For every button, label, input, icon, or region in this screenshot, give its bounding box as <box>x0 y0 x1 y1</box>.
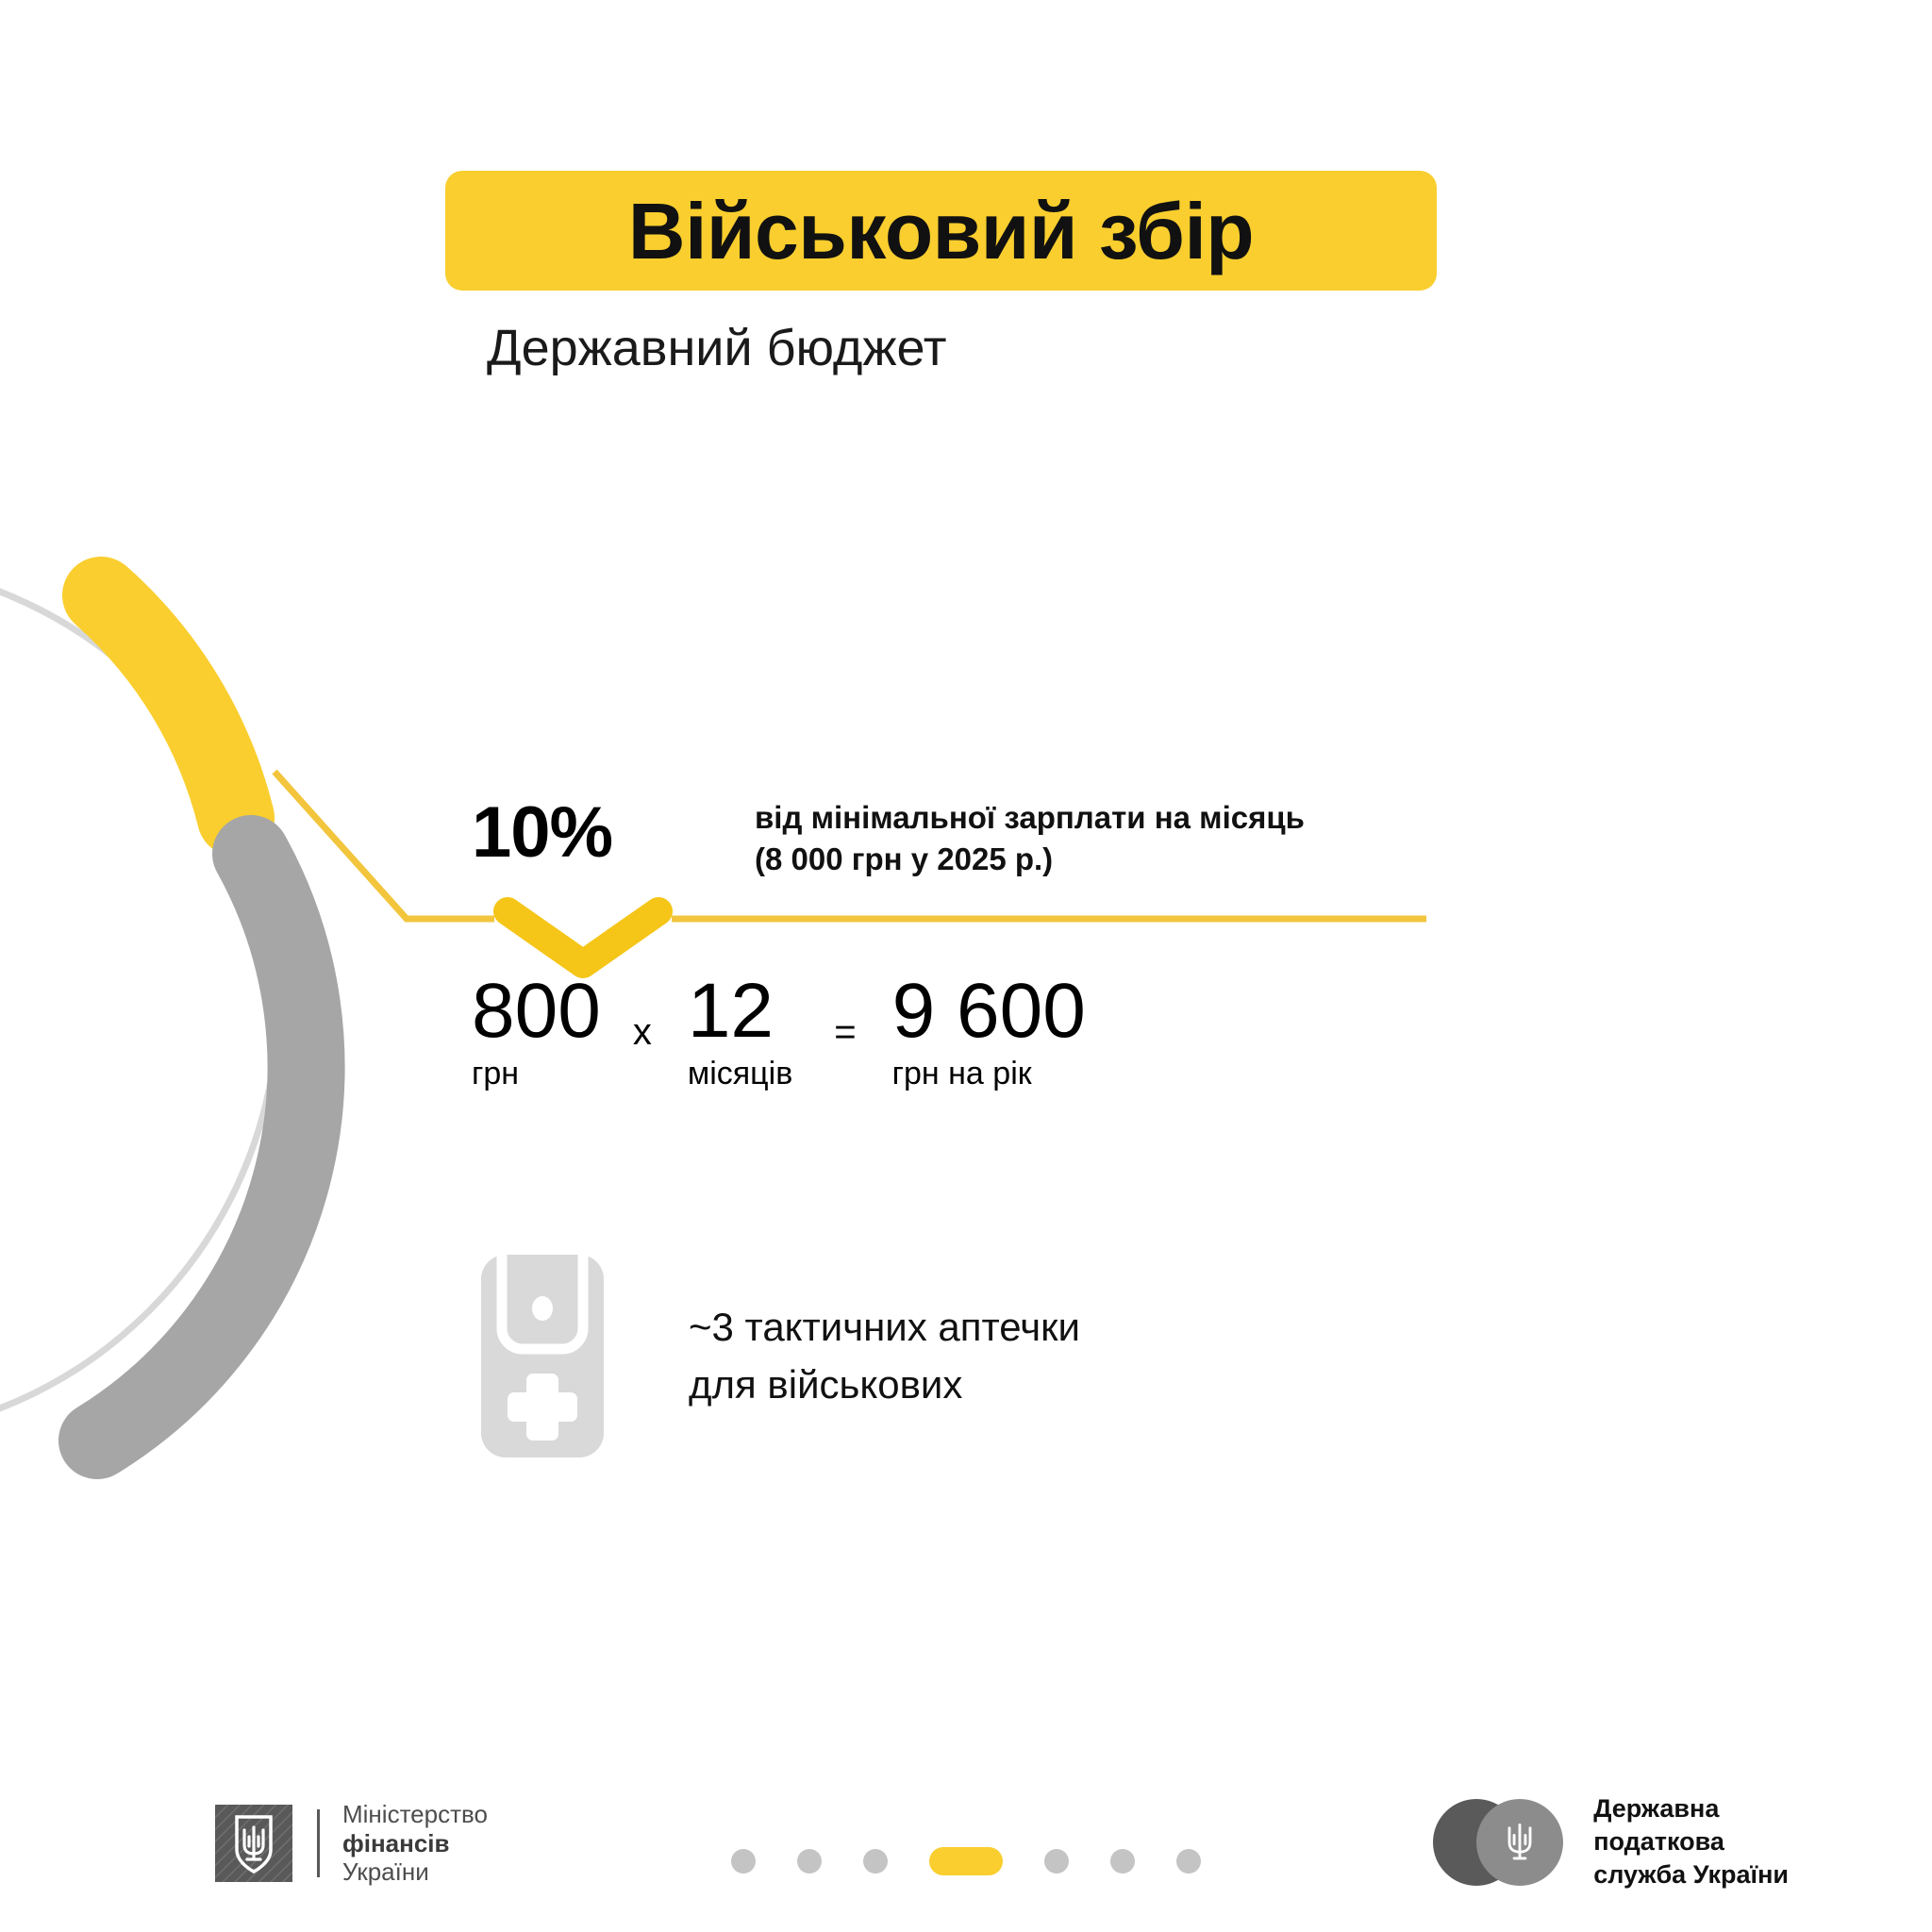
formula-total: 9 600 <box>892 972 1086 1051</box>
equivalent-text: ~3 тактичних аптечки для військових <box>689 1299 1080 1414</box>
rate-description-line2: (8 000 грн у 2025 р.) <box>755 839 1305 880</box>
rate-row: 10% від мінімальної зарплати на місяць (… <box>472 797 1305 879</box>
page-subtitle: Державний бюджет <box>487 319 946 377</box>
formula-amount: 800 <box>472 972 601 1051</box>
page-title: Військовий збір <box>628 192 1254 271</box>
arc-segment-gray <box>97 854 307 1441</box>
chevron-line-mask <box>494 898 672 940</box>
rate-description-line1: від мінімальної зарплати на місяць <box>755 797 1305 839</box>
formula-row: 800 грн x 12 місяців = 9 600 грн на рік <box>472 972 1086 1092</box>
formula-operator-multiply: x <box>633 1013 652 1051</box>
formula-months-group: 12 місяців <box>688 972 792 1092</box>
equivalent-line2: для військових <box>689 1357 1080 1414</box>
arc-thin-ring <box>0 561 278 1439</box>
formula-months: 12 <box>688 972 774 1051</box>
logo-circle-light <box>1476 1799 1563 1886</box>
trident-circle-icon <box>1433 1799 1563 1886</box>
formula-total-unit: грн на рік <box>892 1055 1032 1093</box>
pagination-dot-4-active[interactable] <box>929 1847 1003 1875</box>
pagination-dot-2[interactable] <box>797 1849 822 1874</box>
formula-amount-unit: грн <box>472 1055 519 1093</box>
dps-line3: служба України <box>1593 1858 1789 1891</box>
page-title-banner: Військовий збір <box>445 171 1437 291</box>
formula-amount-group: 800 грн <box>472 972 601 1092</box>
formula-months-unit: місяців <box>688 1055 792 1093</box>
medkit-icon <box>481 1255 604 1457</box>
pagination-dot-3[interactable] <box>863 1849 888 1874</box>
rate-value: 10% <box>472 797 689 869</box>
state-tax-service-label: Державна податкова служба України <box>1593 1792 1789 1891</box>
pagination-dot-1[interactable] <box>731 1849 756 1874</box>
rate-description: від мінімальної зарплати на місяць (8 00… <box>755 797 1305 879</box>
chevron-down-icon <box>508 911 658 964</box>
mof-line1: Міністерство <box>342 1800 488 1829</box>
formula-total-group: 9 600 грн на рік <box>892 972 1086 1092</box>
formula-operator-equals: = <box>834 1013 856 1051</box>
infographic-canvas: Військовий збір Державний бюджет 10% від… <box>0 0 1932 1932</box>
pagination-dot-7[interactable] <box>1176 1849 1201 1874</box>
dps-line1: Державна <box>1593 1792 1789 1825</box>
dps-line2: податкова <box>1593 1825 1789 1858</box>
pagination-dot-5[interactable] <box>1044 1849 1069 1874</box>
equivalent-line1: ~3 тактичних аптечки <box>689 1299 1080 1357</box>
equivalent-row: ~3 тактичних аптечки для військових <box>481 1255 1080 1457</box>
arc-segment-yellow <box>101 595 236 818</box>
pagination-dot-6[interactable] <box>1110 1849 1135 1874</box>
state-tax-service-logo: Державна податкова служба України <box>1433 1792 1789 1891</box>
